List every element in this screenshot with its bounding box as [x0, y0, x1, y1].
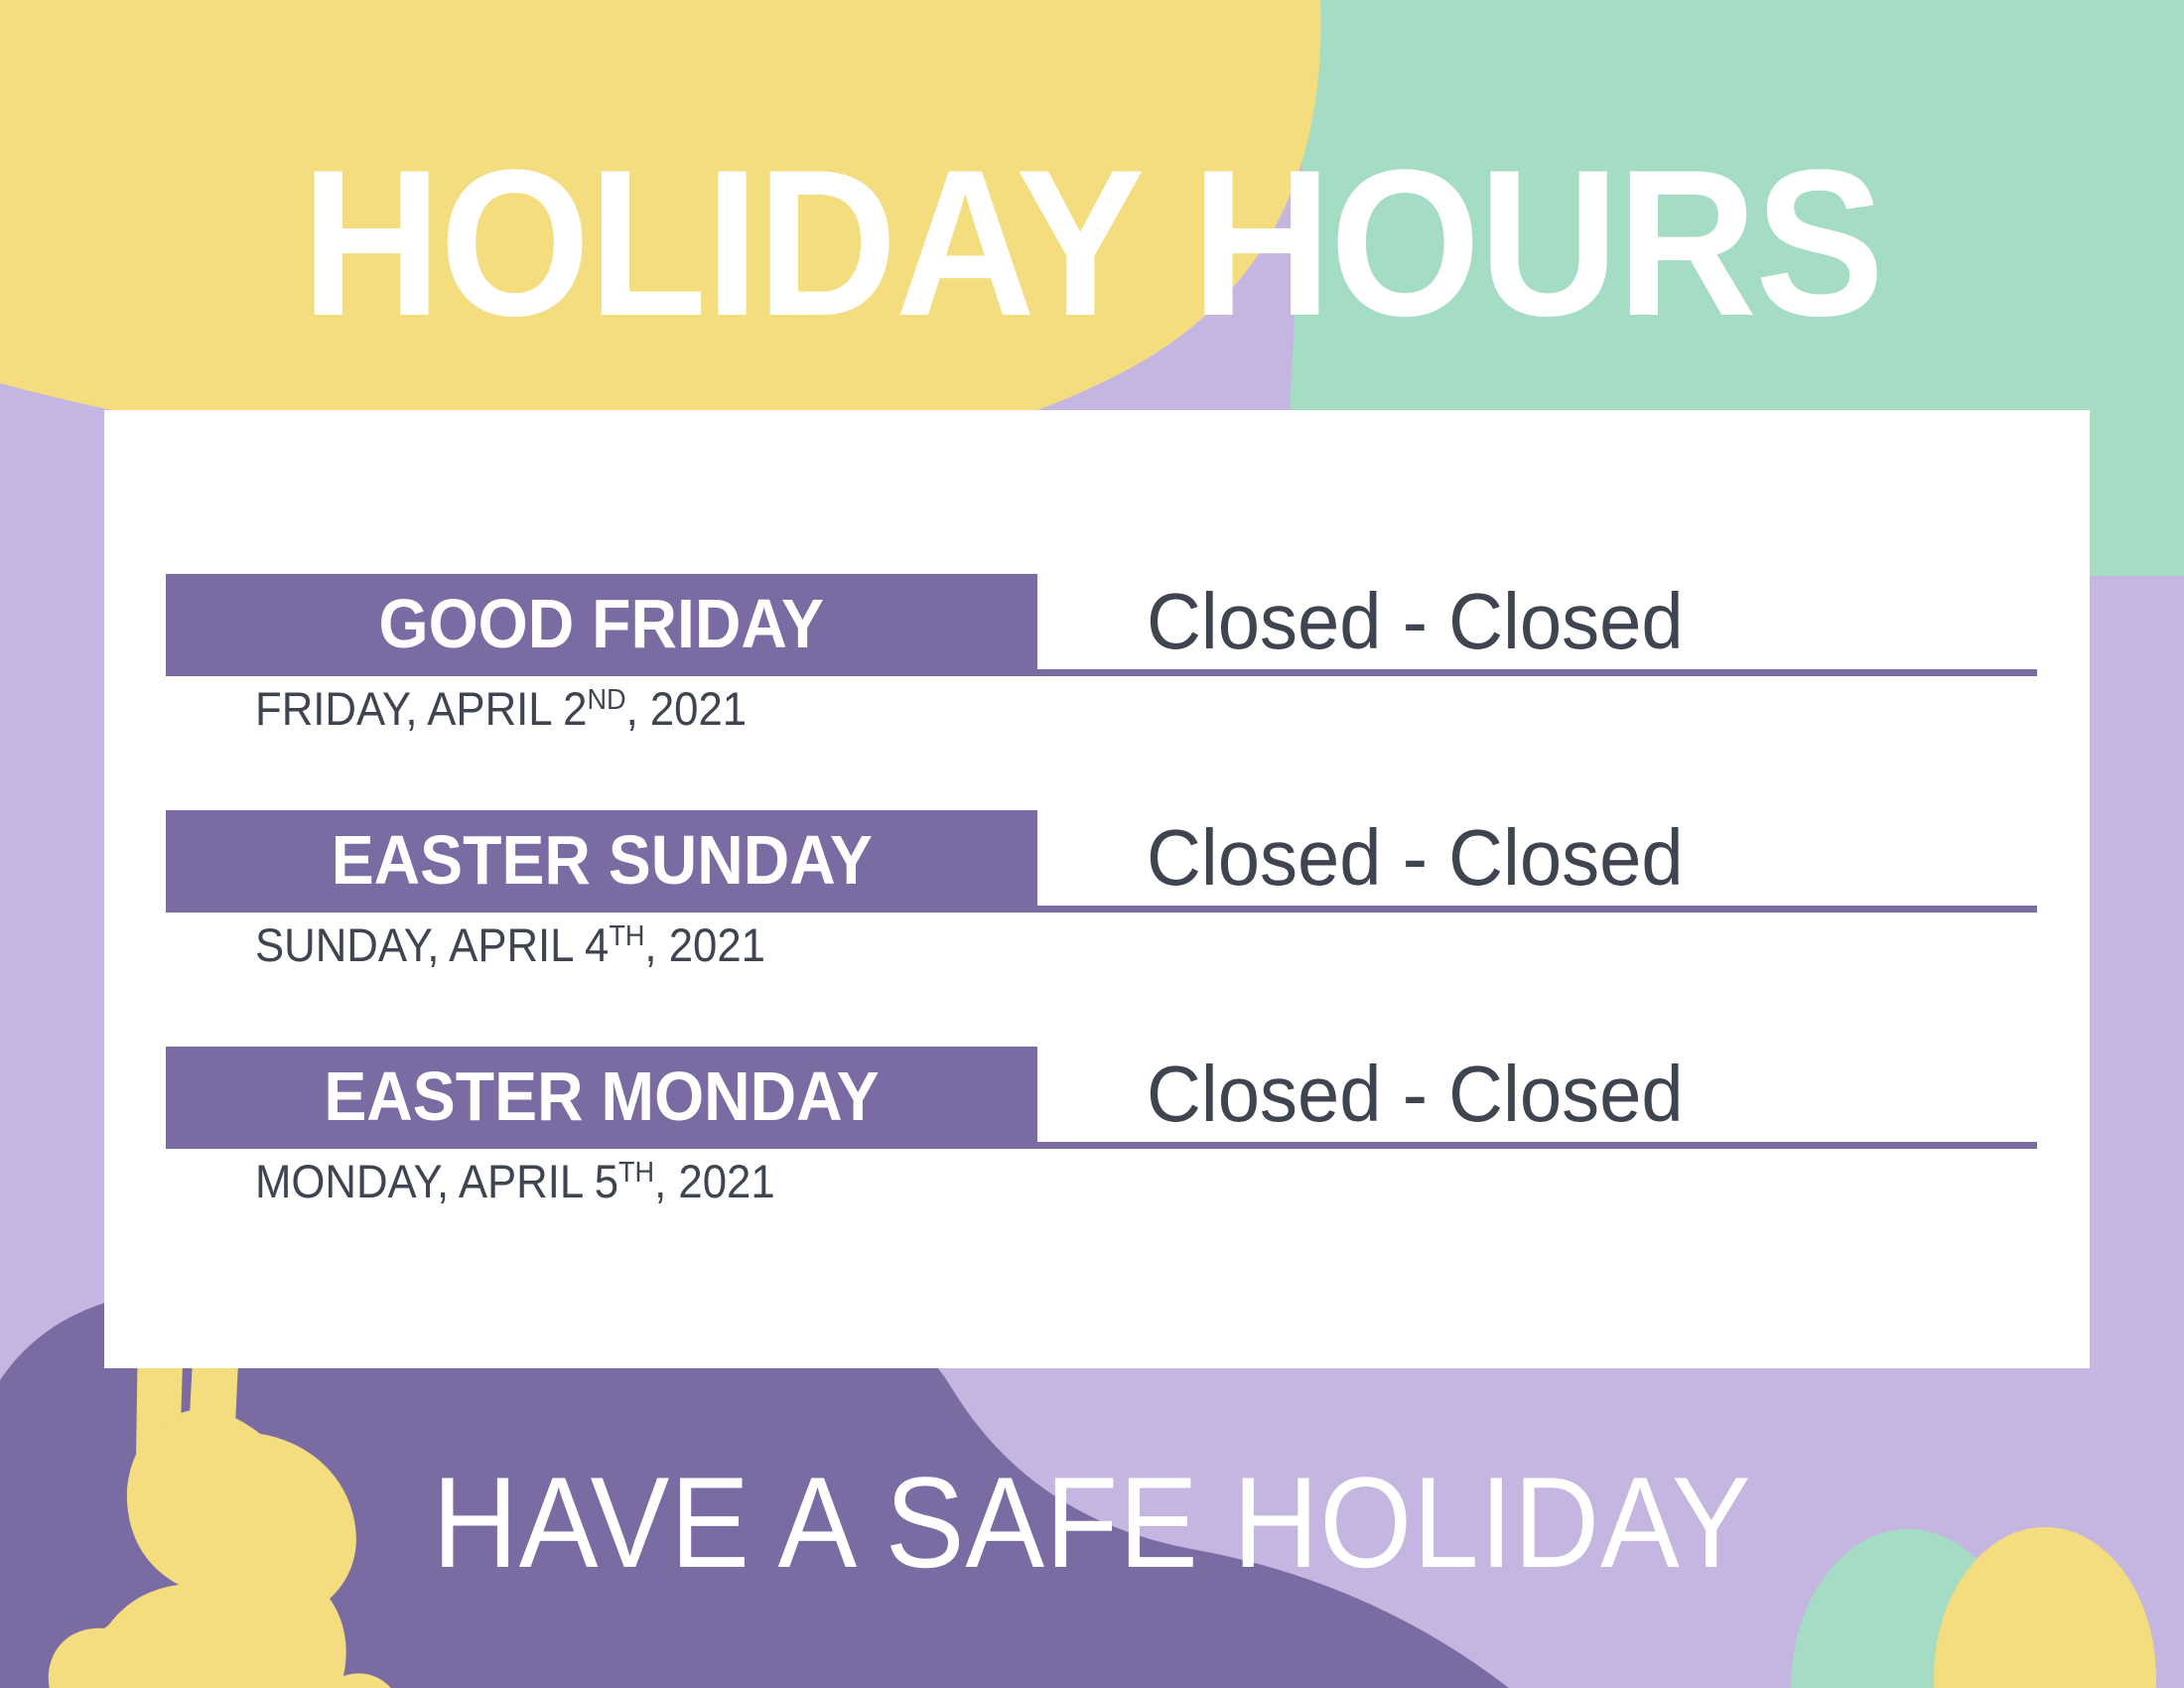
holiday-name: EASTER MONDAY — [324, 1061, 879, 1131]
footer-message: HAVE A SAFE HOLIDAY — [87, 1458, 2097, 1587]
row-main: EASTER SUNDAY Closed - Closed — [166, 810, 2037, 913]
table-row: EASTER MONDAY Closed - Closed MONDAY, AP… — [166, 1047, 2037, 1283]
holiday-hours-cell: Closed - Closed — [1037, 574, 2037, 676]
holiday-date-prefix: MONDAY, APRIL 5 — [255, 1155, 618, 1207]
holiday-hours-cell: Closed - Closed — [1037, 1047, 2037, 1149]
holiday-date-ordinal: ND — [587, 684, 625, 716]
holiday-date: MONDAY, APRIL 5TH, 2021 — [255, 1158, 775, 1204]
row-main: GOOD FRIDAY Closed - Closed — [166, 574, 2037, 676]
holiday-hours-cell: Closed - Closed — [1037, 810, 2037, 913]
row-main: EASTER MONDAY Closed - Closed — [166, 1047, 2037, 1149]
holiday-date-suffix: , 2021 — [644, 918, 765, 971]
holiday-date: FRIDAY, APRIL 2ND, 2021 — [255, 685, 747, 732]
holiday-hours: Closed - Closed — [1147, 816, 1684, 906]
holiday-date-suffix: , 2021 — [654, 1155, 775, 1207]
table-row: GOOD FRIDAY Closed - Closed FRIDAY, APRI… — [166, 574, 2037, 810]
schedule-list: GOOD FRIDAY Closed - Closed FRIDAY, APRI… — [166, 574, 2037, 1283]
holiday-name: EASTER SUNDAY — [331, 825, 872, 895]
holiday-date-prefix: FRIDAY, APRIL 2 — [255, 682, 587, 735]
table-row: EASTER SUNDAY Closed - Closed SUNDAY, AP… — [166, 810, 2037, 1047]
holiday-name-bar: EASTER SUNDAY — [166, 810, 1037, 913]
holiday-date-suffix: , 2021 — [626, 682, 748, 735]
holiday-name: GOOD FRIDAY — [379, 589, 824, 658]
holiday-date: SUNDAY, APRIL 4TH, 2021 — [255, 921, 765, 968]
holiday-date-prefix: SUNDAY, APRIL 4 — [255, 918, 609, 971]
holiday-name-bar: EASTER MONDAY — [166, 1047, 1037, 1149]
holiday-hours-poster: HOLIDAY HOURS GOOD FRIDAY Closed - Close… — [0, 0, 2184, 1688]
holiday-name-bar: GOOD FRIDAY — [166, 574, 1037, 676]
holiday-date-ordinal: TH — [609, 920, 644, 952]
holiday-hours: Closed - Closed — [1147, 1053, 1684, 1142]
holiday-hours: Closed - Closed — [1147, 580, 1684, 669]
page-title: HOLIDAY HOURS — [76, 139, 2108, 348]
holiday-date-ordinal: TH — [618, 1157, 654, 1189]
